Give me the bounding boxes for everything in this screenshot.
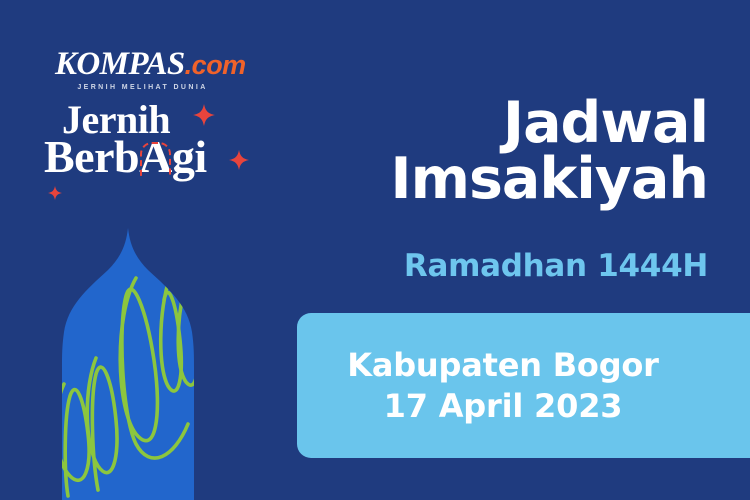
subtitle: Ramadhan 1444H [288, 248, 708, 284]
mosque-arch-decoration [40, 228, 216, 500]
campaign-line-2-after: gi [172, 131, 207, 182]
kompas-logo-suffix: .com [185, 50, 246, 80]
location-label: Kabupaten Bogor [347, 345, 659, 386]
campaign-stitched-letter: A [139, 136, 172, 178]
kompas-logo-main: KOMPAS [55, 46, 185, 82]
campaign-line-2: BerbAgi [44, 136, 207, 178]
kompas-logo: KOMPAS.com JERNIH MELIHAT DUNIA [55, 48, 230, 91]
imsakiyah-poster: KOMPAS.com JERNIH MELIHAT DUNIA Jernih B… [0, 0, 750, 500]
location-date-card: Kabupaten Bogor 17 April 2023 [297, 313, 750, 458]
headline-line-2: Imsakiyah [288, 152, 708, 208]
date-label: 17 April 2023 [384, 386, 623, 427]
headline-line-1: Jadwal [288, 96, 708, 152]
page-title: Jadwal Imsakiyah [288, 96, 708, 208]
kompas-wordmark: KOMPAS.com [55, 48, 230, 81]
campaign-line-2-before: Berb [44, 131, 139, 182]
kompas-tagline: JERNIH MELIHAT DUNIA [55, 84, 230, 91]
arch-shape [62, 228, 194, 500]
